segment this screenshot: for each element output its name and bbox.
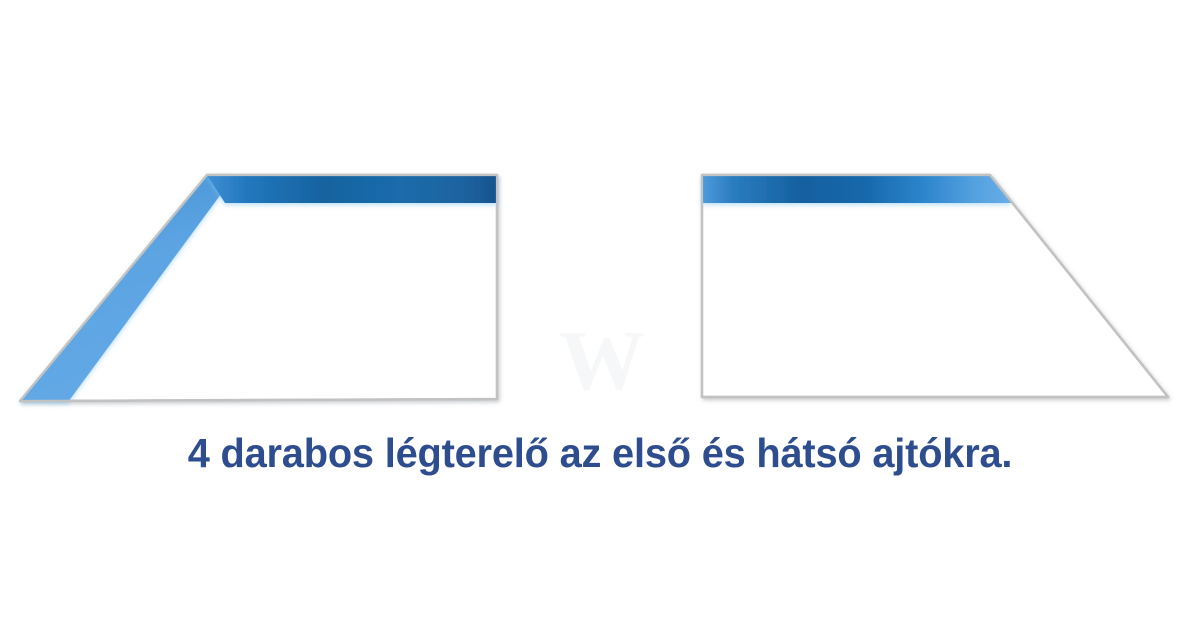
rear-door-deflector-shape — [702, 175, 1168, 397]
deflector-diagram — [0, 0, 1200, 430]
front-door-deflector-strip-top — [207, 175, 497, 203]
rear-door-window-outline — [702, 175, 1168, 397]
front-door-deflector-shape — [20, 175, 497, 402]
product-banner: W — [0, 0, 1200, 630]
rear-door-deflector-strip-top — [702, 175, 1012, 203]
caption-text: 4 darabos légterelő az első és hátsó ajt… — [18, 426, 1182, 480]
product-illustration — [0, 0, 1200, 430]
